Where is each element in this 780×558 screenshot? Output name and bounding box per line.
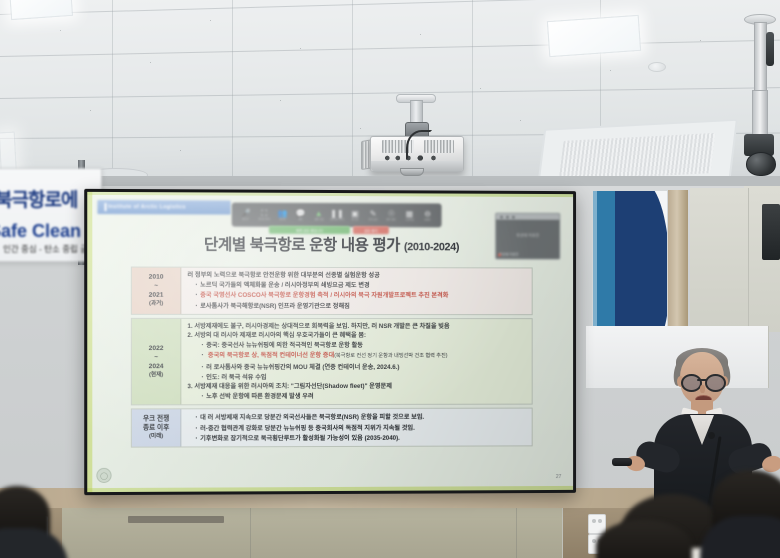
row-period-label: 2022 ~ 2024 (현재) — [132, 319, 182, 405]
period-note: (미래) — [149, 433, 163, 442]
period-top: 2010 — [149, 273, 164, 282]
zoom-btn-label: 채팅 — [298, 218, 302, 221]
zoom-btn-more[interactable]: ⊖ 자세히 — [419, 209, 436, 221]
chat-bubble-icon: 💬 — [296, 209, 306, 218]
table-row: 우크 전쟁 종료 이후 (미래) 대 러 서방제재 지속으로 당분간 외국선사들… — [131, 408, 533, 448]
row-content: 대 러 서방제재 지속으로 당분간 외국선사들은 북극항로(NSR) 운항을 피… — [181, 409, 531, 447]
eyeglasses-icon — [681, 374, 702, 392]
content-line: 노르딕 국가들의 액체화물 운송 / 러시아정부의 쇄빙요금 제도 변경 — [187, 280, 527, 291]
zoom-btn-remote[interactable]: ☉ 원격 제어 — [383, 209, 400, 221]
zoom-btn-label: 공유 일시 중지 — [330, 218, 344, 221]
zoom-btn-label: 주석 달기 — [369, 218, 378, 221]
period-tilde: ~ — [154, 353, 158, 362]
wall-artwork — [592, 190, 668, 328]
table-row: 2010 ~ 2021 (과거) 러 정부의 노력으로 북극항로 안전운항 위한… — [131, 267, 533, 315]
row-period-label: 2010 ~ 2021 (과거) — [132, 268, 182, 314]
zoom-btn-annotate[interactable]: ✎ 주석 달기 — [365, 209, 382, 221]
slide-title-years: (2010-2024) — [404, 241, 459, 253]
content-line-suffix: (북극항로 컨선 정기 운항과 내빙선박 건조 협력 추진) — [334, 353, 447, 359]
eyeglasses-bridge — [697, 379, 707, 381]
period-bottom: 2024 — [149, 362, 164, 371]
cabinet-seam — [516, 508, 517, 558]
row-content: 1. 서방제재에도 불구, 러시아경제는 상대적으로 회복력을 보임. 하지만,… — [181, 319, 531, 405]
banner-line-3: 인간 중심 - 탄소 중립 글로 — [3, 243, 96, 255]
cabinet-seam — [250, 508, 251, 558]
content-line: 중국: 중국선사 뉴뉴쉬핑에 의한 적극적인 북극항로 운항 활동 — [187, 340, 527, 350]
ceiling-light — [547, 15, 641, 57]
zoom-btn-label: 비디오 중지 — [258, 218, 269, 221]
presentation-clicker — [612, 458, 632, 466]
participants-icon: 👥 — [277, 209, 287, 218]
zoom-btn-label: 원격 제어 — [387, 218, 396, 221]
shelf-items — [128, 516, 224, 523]
content-line: 중국의 북극항로 상, 독점적 컨테이너선 운항 증대(북극항로 컨선 정기 운… — [187, 350, 527, 361]
slide-table: 2010 ~ 2021 (과거) 러 정부의 노력으로 북극항로 안전운항 위한… — [131, 267, 533, 451]
zoom-btn-breakout[interactable]: ▦ 소회의실 — [401, 209, 418, 221]
ceiling-projector — [370, 94, 470, 180]
presenter-nose — [700, 385, 705, 393]
close-icon[interactable] — [512, 215, 515, 218]
wall-trim — [0, 176, 780, 186]
zoom-btn-label: 새 공유 — [352, 218, 359, 221]
pencil-icon: ✎ — [370, 209, 377, 218]
video-camera-icon: ⛶ — [261, 209, 267, 218]
period-top: 우크 전쟁 — [143, 415, 169, 424]
period-tilde: ~ — [154, 282, 158, 291]
breakout-icon: ▦ — [406, 209, 414, 218]
zoom-btn-participants[interactable]: 👥 참가자 — [274, 209, 291, 221]
wall-display — [762, 204, 780, 260]
wall-panel — [690, 188, 749, 328]
content-line-main: 중국의 북극항로 상, 독점적 컨테이너선 운항 증대 — [208, 352, 334, 359]
microphone-head-icon — [708, 432, 715, 439]
wall-wood-strip — [666, 190, 688, 326]
content-line: 중국 국영선사 COSCO사 북극항로 운항경험 축적 / 러시아의 북극 자원… — [187, 290, 527, 301]
table-row: 2022 ~ 2024 (현재) 1. 서방제재에도 불구, 러시아경제는 상대… — [131, 318, 533, 406]
tile-titlebar[interactable] — [496, 214, 560, 220]
share-screen-icon: ▲ — [315, 209, 323, 218]
zoom-btn-pause[interactable]: ❚❚ 공유 일시 중지 — [328, 209, 345, 221]
period-bottom: 종료 이후 — [143, 424, 169, 433]
microphone-icon: 🎤 — [241, 209, 251, 218]
content-line: 기후변화로 장기적으로 북극횡단루트가 활성화될 가능성이 있음 (2035-2… — [187, 432, 527, 443]
banner-line-1: 북극항로에 — [0, 185, 77, 212]
content-line: 1. 서방제재에도 불구, 러시아경제는 상대적으로 회복력을 보임. 하지만,… — [187, 322, 527, 331]
row-content: 러 정부의 노력으로 북극항로 안전운항 위한 대부분의 선종별 실험운항 성공… — [181, 268, 531, 314]
screen-edge — [87, 486, 573, 492]
remote-icon: ☉ — [388, 209, 395, 218]
zoom-btn-label: 참가자 — [279, 218, 285, 221]
zoom-btn-label: 소회의실 — [405, 218, 414, 221]
zoom-btn-label: 자세히 — [424, 219, 430, 222]
period-note: (현재) — [149, 371, 163, 380]
slide-logo: Institute of Arctic Logistics — [97, 200, 230, 215]
zoom-toolbar[interactable]: 🎤 음소거 ⛶ 비디오 중지 👥 참가자 💬 채팅 ▲ 화면 공유 — [232, 203, 442, 228]
content-line: 2. 서방의 대 러시아 제재로 러시아의 핵심 우호국가들이 큰 혜택을 봄: — [187, 331, 527, 340]
zoom-btn-chat[interactable]: 💬 채팅 — [292, 209, 309, 221]
zoom-btn-share[interactable]: ▲ 화면 공유 — [310, 209, 327, 221]
zoom-btn-microphone[interactable]: 🎤 음소거 — [237, 209, 254, 221]
eyeglasses-icon — [705, 374, 726, 392]
maximize-icon[interactable] — [506, 215, 509, 218]
projected-slide: Institute of Arctic Logistics 🎤 음소거 ⛶ 비디… — [87, 192, 573, 492]
pause-icon: ❚❚ — [330, 209, 343, 218]
logo-bar-icon — [104, 203, 106, 211]
zoom-btn-video[interactable]: ⛶ 비디오 중지 — [256, 209, 273, 221]
annotate-icon: ▣ — [351, 209, 359, 218]
minimize-icon[interactable] — [500, 215, 503, 218]
ceiling — [0, 0, 780, 180]
zoom-btn-label: 화면 공유 — [314, 218, 323, 221]
screen-edge — [87, 192, 573, 197]
slide-page-number: 27 — [556, 474, 561, 480]
period-top: 2022 — [149, 344, 164, 353]
projection-screen: Institute of Arctic Logistics 🎤 음소거 ⛶ 비디… — [84, 189, 576, 495]
content-line: 인도: 러 북극 석유 수입 — [187, 372, 527, 383]
more-icon: ⊖ — [424, 209, 431, 218]
slide-watermark-icon: ◯ — [96, 468, 111, 483]
conference-room-screenshot: 북극항로에 Safe Clean Su 인간 중심 - 탄소 중립 글로 Ins… — [0, 0, 780, 558]
slide-title-text: 단계별 북극항로 운항 내용 평가 — [204, 237, 400, 255]
slide-title: 단계별 북극항로 운항 내용 평가 (2010-2024) — [87, 232, 573, 255]
period-bottom: 2021 — [149, 291, 164, 300]
ceiling-speaker-icon — [648, 62, 666, 72]
zoom-btn-new-share[interactable]: ▣ 새 공유 — [347, 209, 364, 221]
slide-logo-text: Institute of Arctic Logistics — [108, 204, 186, 210]
content-line: 로사톰사가 북극해항로(NSR) 인프라 운영기관으로 정해짐 — [187, 300, 527, 311]
row-period-label: 우크 전쟁 종료 이후 (미래) — [132, 410, 182, 447]
content-line: 노후 선박 운항에 따른 환경문제 발생 우려 — [187, 391, 527, 402]
period-note: (과거) — [149, 300, 163, 309]
ceiling-light — [9, 0, 73, 20]
content-line: 3. 서방제재 대응을 위한 러시아의 조치: "그림자선단(Shadow fl… — [187, 382, 527, 392]
zoom-btn-label: 음소거 — [243, 218, 249, 221]
content-line: 러 로사톰사와 중국 뉴뉴쉬핑간의 MOU 체결 (연중 컨테이너 운송, 20… — [187, 362, 527, 372]
